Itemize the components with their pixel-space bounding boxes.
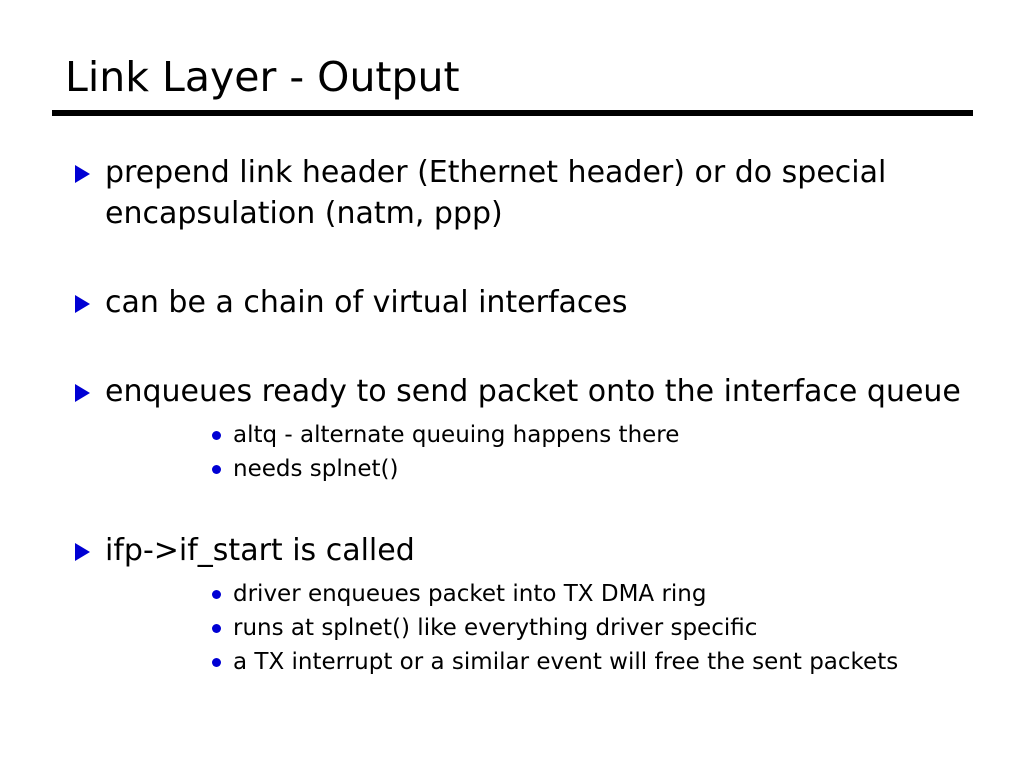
sub-bullet-text: altq - alternate queuing happens there — [233, 418, 924, 452]
list-item: ifp->if_start is called driver enqueues … — [0, 530, 1024, 679]
sub-bullet-text: a TX interrupt or a similar event will f… — [233, 645, 924, 679]
sub-list-item: a TX interrupt or a similar event will f… — [105, 645, 964, 679]
title-block: Link Layer - Output — [52, 52, 973, 116]
sub-bullet-list: driver enqueues packet into TX DMA ring … — [105, 577, 964, 679]
sub-list-item: runs at splnet() like everything driver … — [105, 611, 964, 645]
slide-body: prepend link header (Ethernet header) or… — [0, 152, 1024, 679]
sub-list-item: altq - alternate queuing happens there — [105, 418, 964, 452]
bullet-list: prepend link header (Ethernet header) or… — [0, 152, 1024, 679]
bullet-text: can be a chain of virtual interfaces — [105, 282, 964, 323]
list-item: prepend link header (Ethernet header) or… — [0, 152, 1024, 234]
triangle-bullet-icon — [75, 543, 90, 561]
triangle-bullet-icon — [75, 295, 90, 313]
sub-list-item: needs splnet() — [105, 452, 964, 486]
dot-bullet-icon — [212, 431, 221, 440]
dot-bullet-icon — [212, 658, 221, 667]
sub-bullet-text: driver enqueues packet into TX DMA ring — [233, 577, 924, 611]
dot-bullet-icon — [212, 465, 221, 474]
spacer — [0, 234, 1024, 282]
bullet-text: prepend link header (Ethernet header) or… — [105, 152, 964, 234]
dot-bullet-icon — [212, 624, 221, 633]
list-item: can be a chain of virtual interfaces — [0, 282, 1024, 323]
sub-bullet-text: needs splnet() — [233, 452, 924, 486]
page-title: Link Layer - Output — [52, 52, 973, 102]
spacer — [0, 486, 1024, 530]
triangle-bullet-icon — [75, 384, 90, 402]
dot-bullet-icon — [212, 590, 221, 599]
bullet-text: ifp->if_start is called — [105, 530, 964, 571]
slide-canvas: Link Layer - Output prepend link header … — [0, 0, 1024, 768]
list-item: enqueues ready to send packet onto the i… — [0, 371, 1024, 486]
title-underline-rule — [52, 110, 973, 116]
triangle-bullet-icon — [75, 165, 90, 183]
sub-bullet-list: altq - alternate queuing happens there n… — [105, 418, 964, 486]
bullet-text: enqueues ready to send packet onto the i… — [105, 371, 964, 412]
spacer — [0, 323, 1024, 371]
sub-bullet-text: runs at splnet() like everything driver … — [233, 611, 924, 645]
sub-list-item: driver enqueues packet into TX DMA ring — [105, 577, 964, 611]
